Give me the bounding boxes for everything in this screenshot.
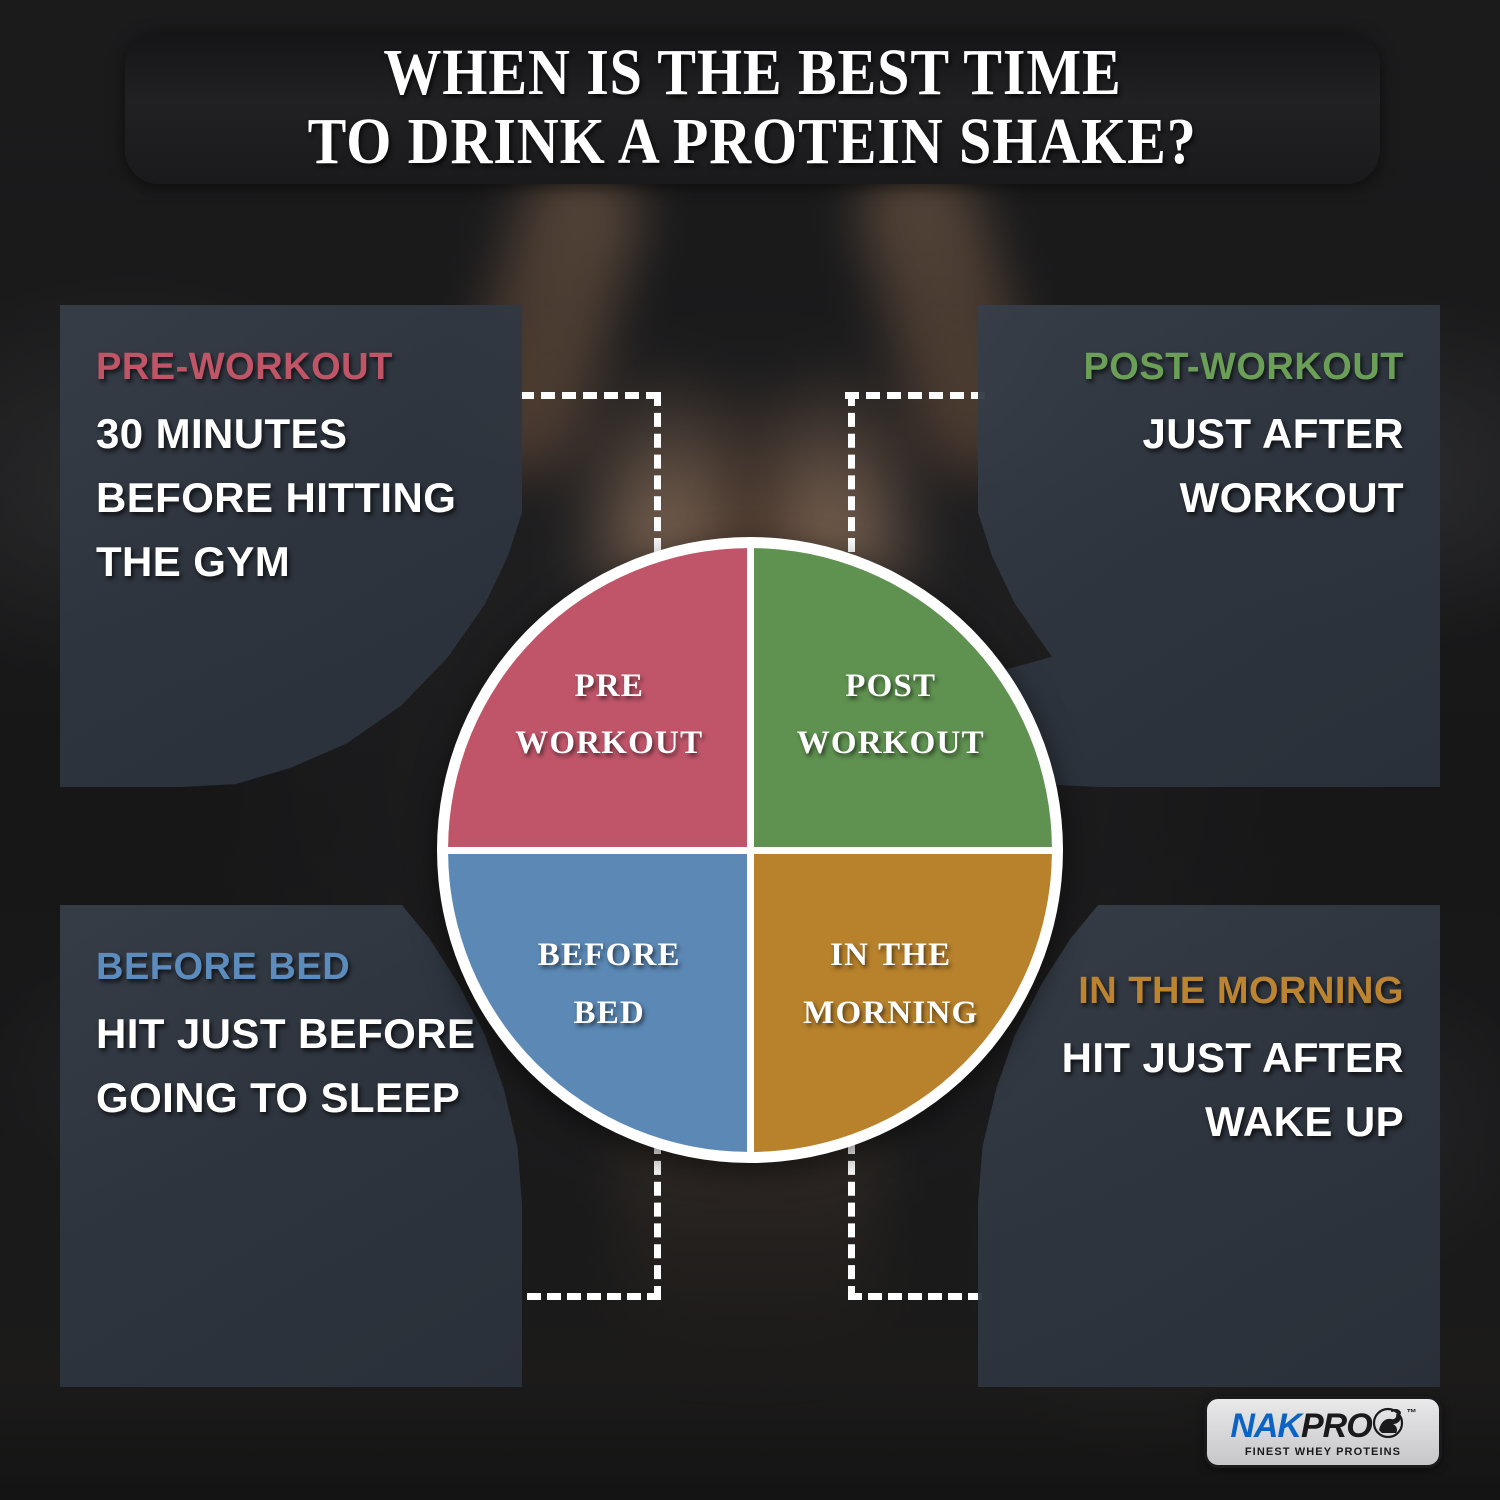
panel-before-bed: BEFORE BED HIT JUST BEFORE GOING TO SLEE… <box>60 905 522 1387</box>
panel-before-bed-body: HIT JUST BEFORE GOING TO SLEEP <box>96 1002 486 1130</box>
connector-morning-vertical <box>848 1140 855 1300</box>
panel-before-bed-heading: BEFORE BED <box>96 947 486 988</box>
panel-in-the-morning-body: HIT JUST AFTER WAKE UP <box>1014 1026 1404 1154</box>
wheel-quadrant-in-the-morning-line1: IN THE <box>830 927 951 985</box>
panel-post-workout-heading: POST-WORKOUT <box>1014 347 1404 388</box>
connector-post-horizontal <box>845 392 985 399</box>
wheel-quadrant-before-bed-line2: BED <box>574 985 645 1043</box>
wheel-quadrant-before-bed-line1: BEFORE <box>538 927 681 985</box>
infographic-canvas: WHEN IS THE BEST TIME TO DRINK A PROTEIN… <box>0 0 1500 1500</box>
timing-wheel-quadrants: PRE WORKOUT POST WORKOUT BEFORE BED IN T… <box>448 548 1052 1152</box>
connector-bed-horizontal <box>527 1293 661 1300</box>
nakpro-logo: NAK PRO ™ FINEST WHEY PROTEINS <box>1204 1396 1442 1468</box>
connector-post-vertical <box>848 392 855 552</box>
panel-pre-workout-heading: PRE-WORKOUT <box>96 347 486 388</box>
wheel-quadrant-post-workout-line1: POST <box>845 658 936 716</box>
timing-wheel: PRE WORKOUT POST WORKOUT BEFORE BED IN T… <box>437 537 1063 1163</box>
title-banner: WHEN IS THE BEST TIME TO DRINK A PROTEIN… <box>125 32 1380 184</box>
connector-pre-horizontal <box>520 392 660 399</box>
nakpro-brand-second: PRO <box>1301 1409 1372 1443</box>
wheel-quadrant-pre-workout-line1: PRE <box>574 658 644 716</box>
connector-bed-vertical <box>654 1140 661 1300</box>
panel-post-workout-body: JUST AFTER WORKOUT <box>1014 402 1404 530</box>
wheel-quadrant-post-workout-line2: WORKOUT <box>797 715 985 773</box>
nakpro-wordmark: NAK PRO ™ <box>1230 1408 1415 1444</box>
panel-post-workout: POST-WORKOUT JUST AFTER WORKOUT <box>978 305 1440 787</box>
flexing-arm-icon <box>1373 1406 1407 1444</box>
panel-pre-workout-body: 30 MINUTES BEFORE HITTING THE GYM <box>96 402 486 593</box>
nakpro-tagline: FINEST WHEY PROTEINS <box>1245 1446 1401 1458</box>
wheel-quadrant-pre-workout-line2: WORKOUT <box>515 715 703 773</box>
nakpro-brand-first: NAK <box>1230 1409 1301 1443</box>
wheel-quadrant-in-the-morning-line2: MORNING <box>803 985 978 1043</box>
connector-morning-horizontal <box>848 1293 982 1300</box>
panel-in-the-morning-heading: IN THE MORNING <box>1014 971 1404 1012</box>
panel-in-the-morning: IN THE MORNING HIT JUST AFTER WAKE UP <box>978 905 1440 1387</box>
title-line-2: TO DRINK A PROTEIN SHAKE? <box>308 108 1197 177</box>
trademark-symbol: ™ <box>1407 1409 1416 1419</box>
connector-pre-vertical <box>654 392 661 552</box>
title-line-1: WHEN IS THE BEST TIME <box>383 39 1121 108</box>
